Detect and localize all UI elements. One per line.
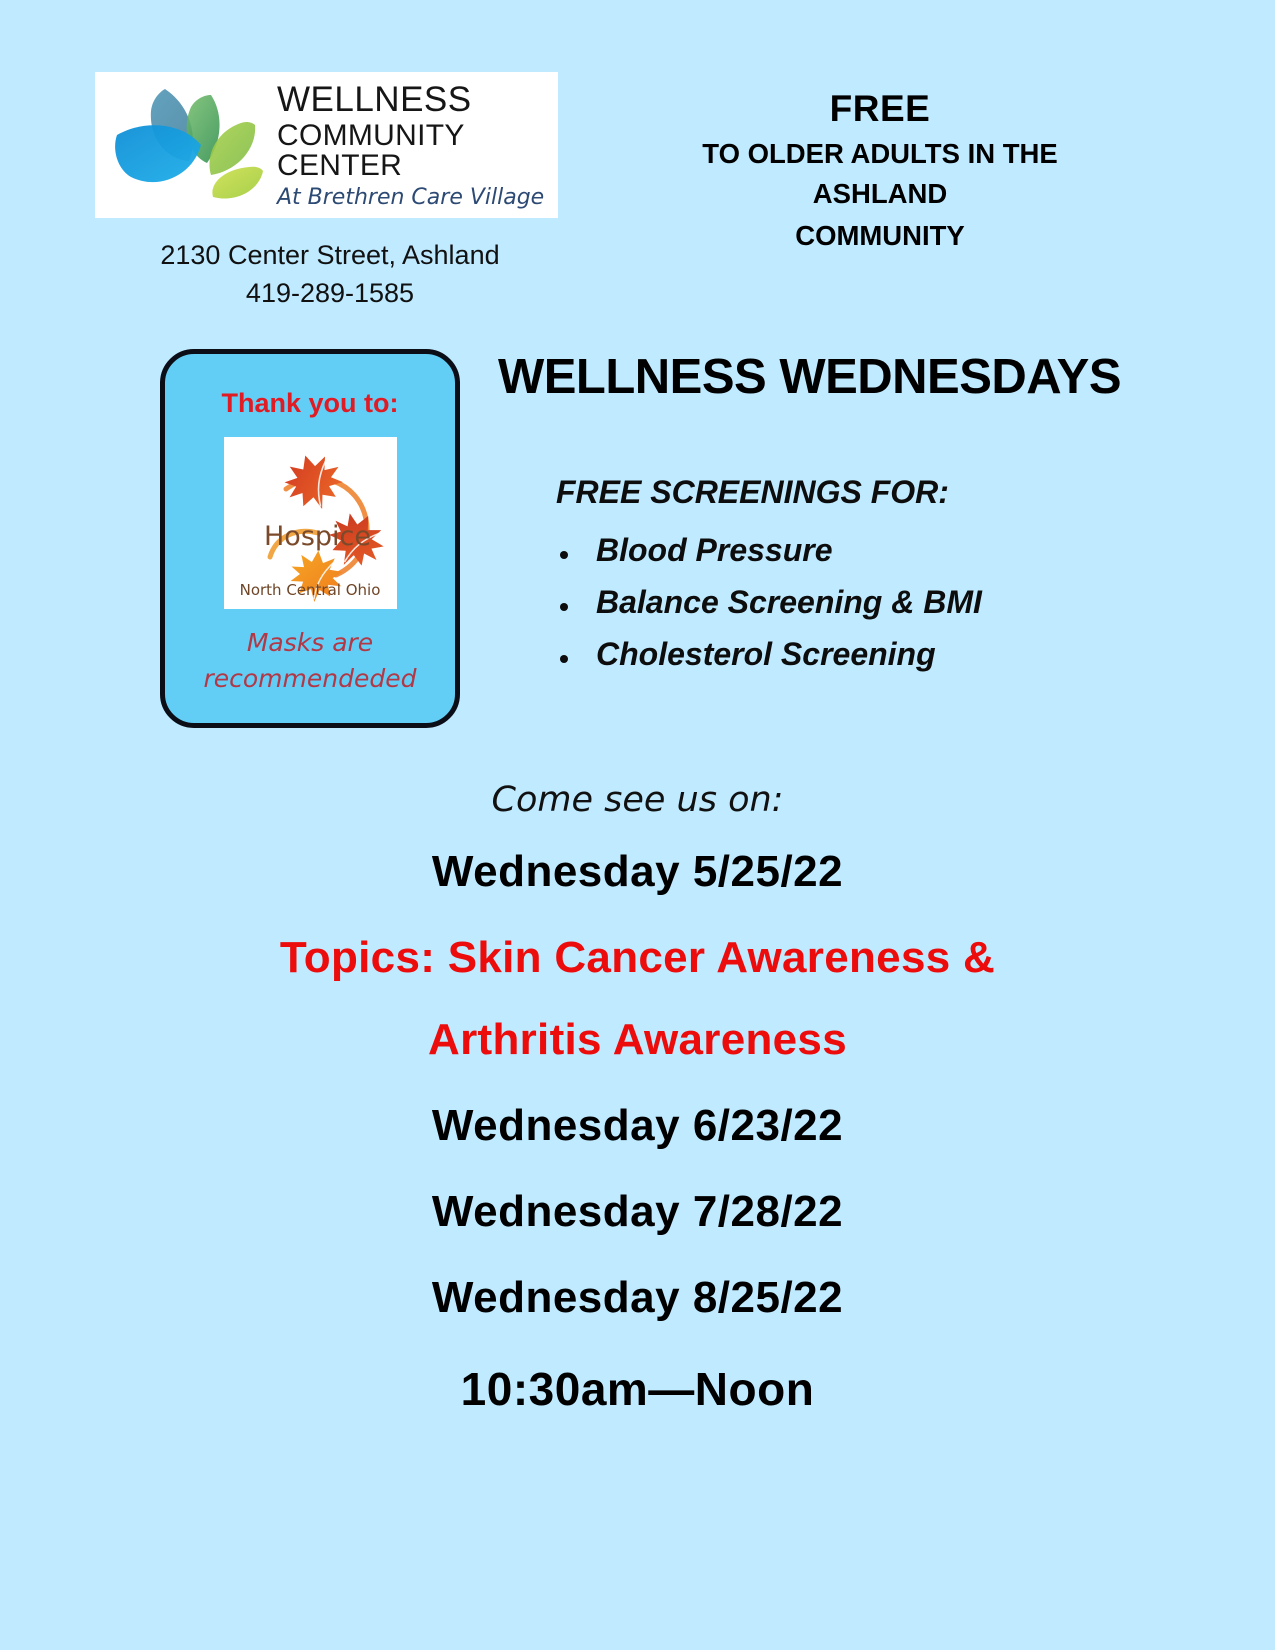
schedule-topics-line-1: Topics: Skin Cancer Awareness & [0, 936, 1275, 980]
screening-label: Blood Pressure [596, 532, 833, 568]
masks-note-line-1: Masks are [181, 625, 439, 661]
schedule-date-4: Wednesday 8/25/22 [0, 1276, 1275, 1320]
bullet-icon [560, 603, 568, 611]
list-item: Balance Screening & BMI [556, 577, 1156, 629]
schedule-date-1: Wednesday 5/25/22 [0, 850, 1275, 894]
wellness-community-center-logo-card: WELLNESS COMMUNITY CENTER At Brethren Ca… [95, 72, 558, 218]
screenings-list: Blood Pressure Balance Screening & BMI C… [556, 525, 1156, 680]
phone-line: 419-289-1585 [95, 274, 565, 312]
bullet-icon [560, 655, 568, 663]
sponsor-thank-you-box: Thank you to: [160, 349, 460, 728]
screening-label: Balance Screening & BMI [596, 584, 982, 620]
screenings-heading: FREE SCREENINGS FOR: [556, 474, 949, 511]
screening-label: Cholesterol Screening [596, 636, 936, 672]
page-title: WELLNESS WEDNESDAYS [498, 349, 1158, 405]
schedule-topics-line-2: Arthritis Awareness [0, 1018, 1275, 1062]
list-item: Blood Pressure [556, 525, 1156, 577]
wellness-lotus-mark-icon [103, 79, 273, 211]
hospice-word: Hospice [264, 521, 371, 552]
address-line: 2130 Center Street, Ashland [95, 236, 565, 274]
free-banner: FREE TO OLDER ADULTS IN THE ASHLAND COMM… [620, 88, 1140, 254]
bullet-icon [560, 551, 568, 559]
schedule-section: Come see us on: Wednesday 5/25/22 Topics… [0, 780, 1275, 1416]
free-headline: FREE [620, 88, 1140, 131]
masks-note-line-2: recommendeded [181, 661, 439, 697]
hospice-region: North Central Ohio [239, 581, 380, 599]
free-subline-1: TO OLDER ADULTS IN THE [620, 136, 1140, 172]
schedule-time: 10:30am—Noon [0, 1362, 1275, 1416]
schedule-date-2: Wednesday 6/23/22 [0, 1104, 1275, 1148]
list-item: Cholesterol Screening [556, 629, 1156, 681]
logo-line-community-center: COMMUNITY CENTER [277, 121, 558, 181]
masks-note: Masks are recommendeded [165, 625, 455, 698]
schedule-intro: Come see us on: [0, 780, 1275, 820]
thank-you-label: Thank you to: [165, 388, 455, 419]
hospice-north-central-ohio-logo-icon: Hospice North Central Ohio [224, 437, 397, 609]
contact-block: 2130 Center Street, Ashland 419-289-1585 [95, 236, 565, 313]
schedule-date-3: Wednesday 7/28/22 [0, 1190, 1275, 1234]
logo-wordmark: WELLNESS COMMUNITY CENTER At Brethren Ca… [277, 82, 558, 209]
logo-line-wellness: WELLNESS [277, 82, 558, 117]
free-subline-2: ASHLAND [620, 176, 1140, 212]
free-subline-3: COMMUNITY [620, 218, 1140, 254]
logo-tagline: At Brethren Care Village [277, 187, 558, 209]
